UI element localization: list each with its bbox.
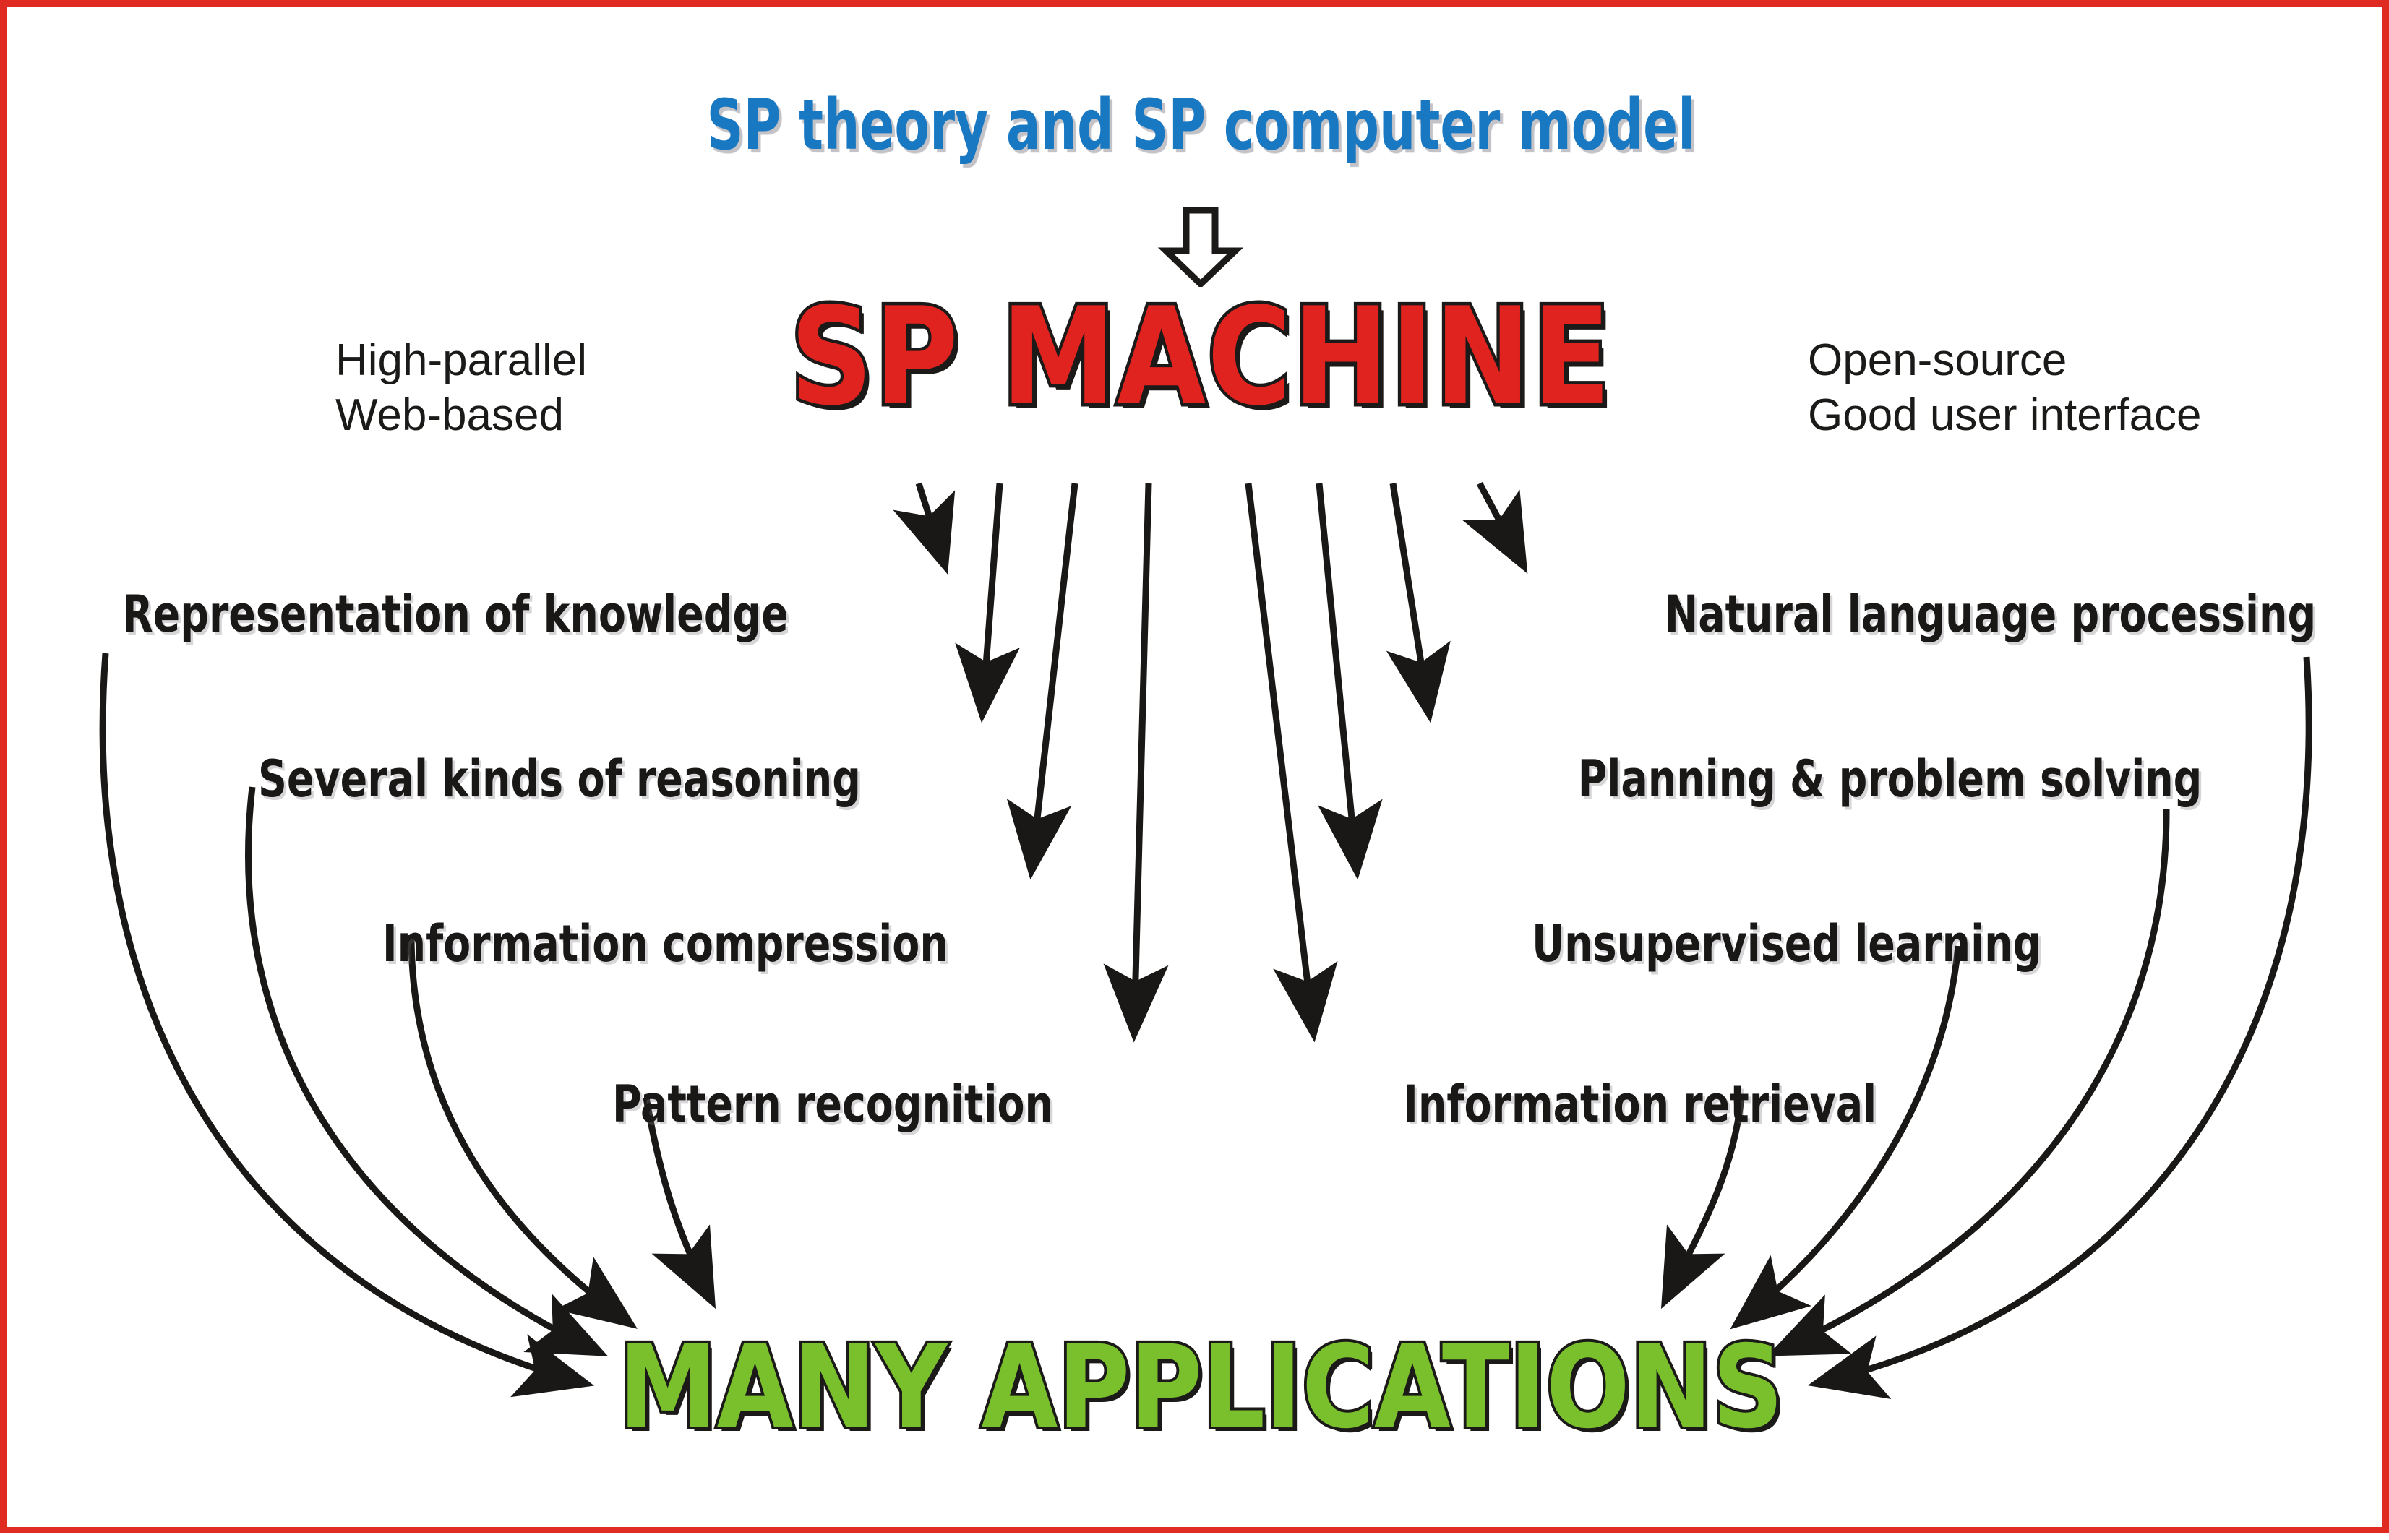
diagram-frame: SP theory and SP computer model SP MACHI… [0, 0, 2389, 1533]
capability-natural-language-processing: Natural language processing [1665, 585, 2316, 644]
block-down-arrow-icon [1157, 207, 1244, 287]
arrow-unsupervised-learning-to-applications [1738, 946, 1958, 1323]
note-left: High-parallel Web-based [335, 333, 587, 442]
arrow-to-unsupervised-learning [1319, 483, 1357, 870]
capability-planning-and-problem-solving: Planning & problem solving [1577, 749, 2202, 809]
capability-information-compression: Information compression [382, 914, 948, 973]
arrow-to-representation-of-knowledge [919, 483, 945, 565]
arrow-to-information-retrieval [1248, 483, 1313, 1033]
note-right-line-1: Open-source [1808, 333, 2202, 388]
capability-representation-of-knowledge: Representation of knowledge [122, 585, 789, 644]
many-applications-title: MANY APPLICATIONS [54, 1330, 2348, 1445]
note-left-line-1: High-parallel [335, 333, 587, 388]
arrow-to-pattern-recognition [1134, 483, 1149, 1033]
diagram-canvas: SP theory and SP computer model SP MACHI… [7, 7, 2389, 1540]
arrow-to-several-kinds-of-reasoning [982, 483, 1000, 713]
capability-unsupervised-learning: Unsupervised learning [1532, 914, 2041, 973]
arrow-to-information-compression [1031, 483, 1075, 870]
arrow-to-natural-language-processing [1480, 483, 1523, 565]
fanout-arrows [919, 483, 1523, 1033]
page-title: SP theory and SP computer model [221, 85, 2180, 165]
capability-information-retrieval: Information retrieval [1403, 1075, 1877, 1134]
arrow-to-planning-problem-solving [1393, 483, 1429, 713]
capability-several-kinds-of-reasoning: Several kinds of reasoning [258, 749, 861, 809]
capability-pattern-recognition: Pattern recognition [612, 1075, 1053, 1134]
note-right-line-2: Good user interface [1808, 388, 2202, 443]
arrow-information-compression-to-applications [411, 935, 630, 1323]
arrow-several-kinds-of-reasoning-to-applications [248, 787, 599, 1352]
note-right: Open-source Good user interface [1808, 333, 2202, 442]
note-left-line-2: Web-based [335, 388, 587, 443]
